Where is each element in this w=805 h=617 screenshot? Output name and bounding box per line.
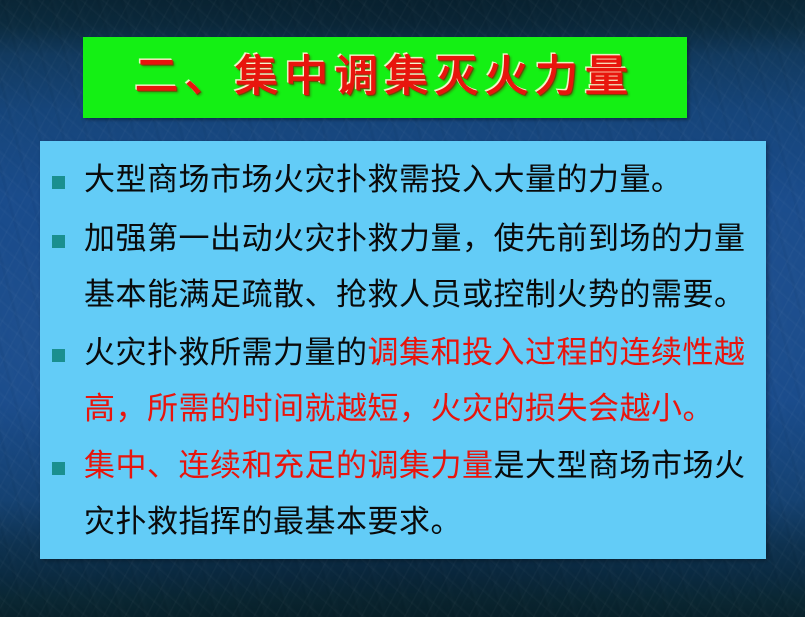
square-bullet-icon	[52, 349, 65, 362]
content-panel: 大型商场市场火灾扑救需投入大量的力量。 加强第一出动火灾扑救力量，使先前到场的力…	[40, 141, 766, 559]
bullet-item-1-body: 大型商场市场火灾扑救需投入大量的力量。	[84, 165, 683, 196]
highlight-text-run: 高，所需的时间就越短，火灾的损失会越小。	[84, 391, 714, 427]
bullet-line: 基本能满足疏散、抢救人员或控制火势的需要。	[84, 280, 746, 311]
text-run: 灾扑救指挥的最基本要求。	[84, 504, 462, 540]
bullet-line: 加强第一出动火灾扑救力量，使先前到场的力量	[84, 224, 746, 255]
square-bullet-icon	[52, 176, 65, 189]
square-bullet-icon	[52, 462, 65, 475]
bullet-item-4-body: 集中、连续和充足的调集力量是大型商场市场火 灾扑救指挥的最基本要求。	[84, 451, 746, 538]
bullet-line: 火灾扑救所需力量的调集和投入过程的连续性越	[84, 338, 746, 369]
bullet-item-3: 火灾扑救所需力量的调集和投入过程的连续性越 高，所需的时间就越短，火灾的损失会越…	[52, 338, 746, 425]
square-bullet-icon	[52, 235, 65, 248]
bullet-item-3-body: 火灾扑救所需力量的调集和投入过程的连续性越 高，所需的时间就越短，火灾的损失会越…	[84, 338, 746, 425]
bullet-item-2-body: 加强第一出动火灾扑救力量，使先前到场的力量 基本能满足疏散、抢救人员或控制火势的…	[84, 224, 746, 311]
bullet-line: 高，所需的时间就越短，火灾的损失会越小。	[84, 394, 746, 425]
highlight-text-run: 集中、连续和充足的调集力量	[84, 448, 494, 484]
text-run: 基本能满足疏散、抢救人员或控制火势的需要。	[84, 277, 746, 313]
bullet-item-1: 大型商场市场火灾扑救需投入大量的力量。	[52, 165, 683, 196]
title-banner: 二、集中调集灭火力量	[83, 37, 687, 118]
page-title: 二、集中调集灭火力量	[135, 56, 635, 99]
presentation-slide: 二、集中调集灭火力量 大型商场市场火灾扑救需投入大量的力量。 加强第一出动火灾扑…	[0, 0, 805, 617]
text-run: 火灾扑救所需力量的	[84, 335, 368, 371]
bullet-line: 灾扑救指挥的最基本要求。	[84, 507, 746, 538]
bullet-item-2: 加强第一出动火灾扑救力量，使先前到场的力量 基本能满足疏散、抢救人员或控制火势的…	[52, 224, 746, 311]
highlight-text-run: 调集和投入过程的连续性越	[368, 335, 746, 371]
text-run: 大型商场市场火灾扑救需投入大量的力量。	[84, 162, 683, 198]
bullet-line: 大型商场市场火灾扑救需投入大量的力量。	[84, 165, 683, 196]
bullet-line: 集中、连续和充足的调集力量是大型商场市场火	[84, 451, 746, 482]
text-run: 是大型商场市场火	[494, 448, 746, 484]
text-run: 加强第一出动火灾扑救力量，使先前到场的力量	[84, 221, 746, 257]
bullet-item-4: 集中、连续和充足的调集力量是大型商场市场火 灾扑救指挥的最基本要求。	[52, 451, 746, 538]
